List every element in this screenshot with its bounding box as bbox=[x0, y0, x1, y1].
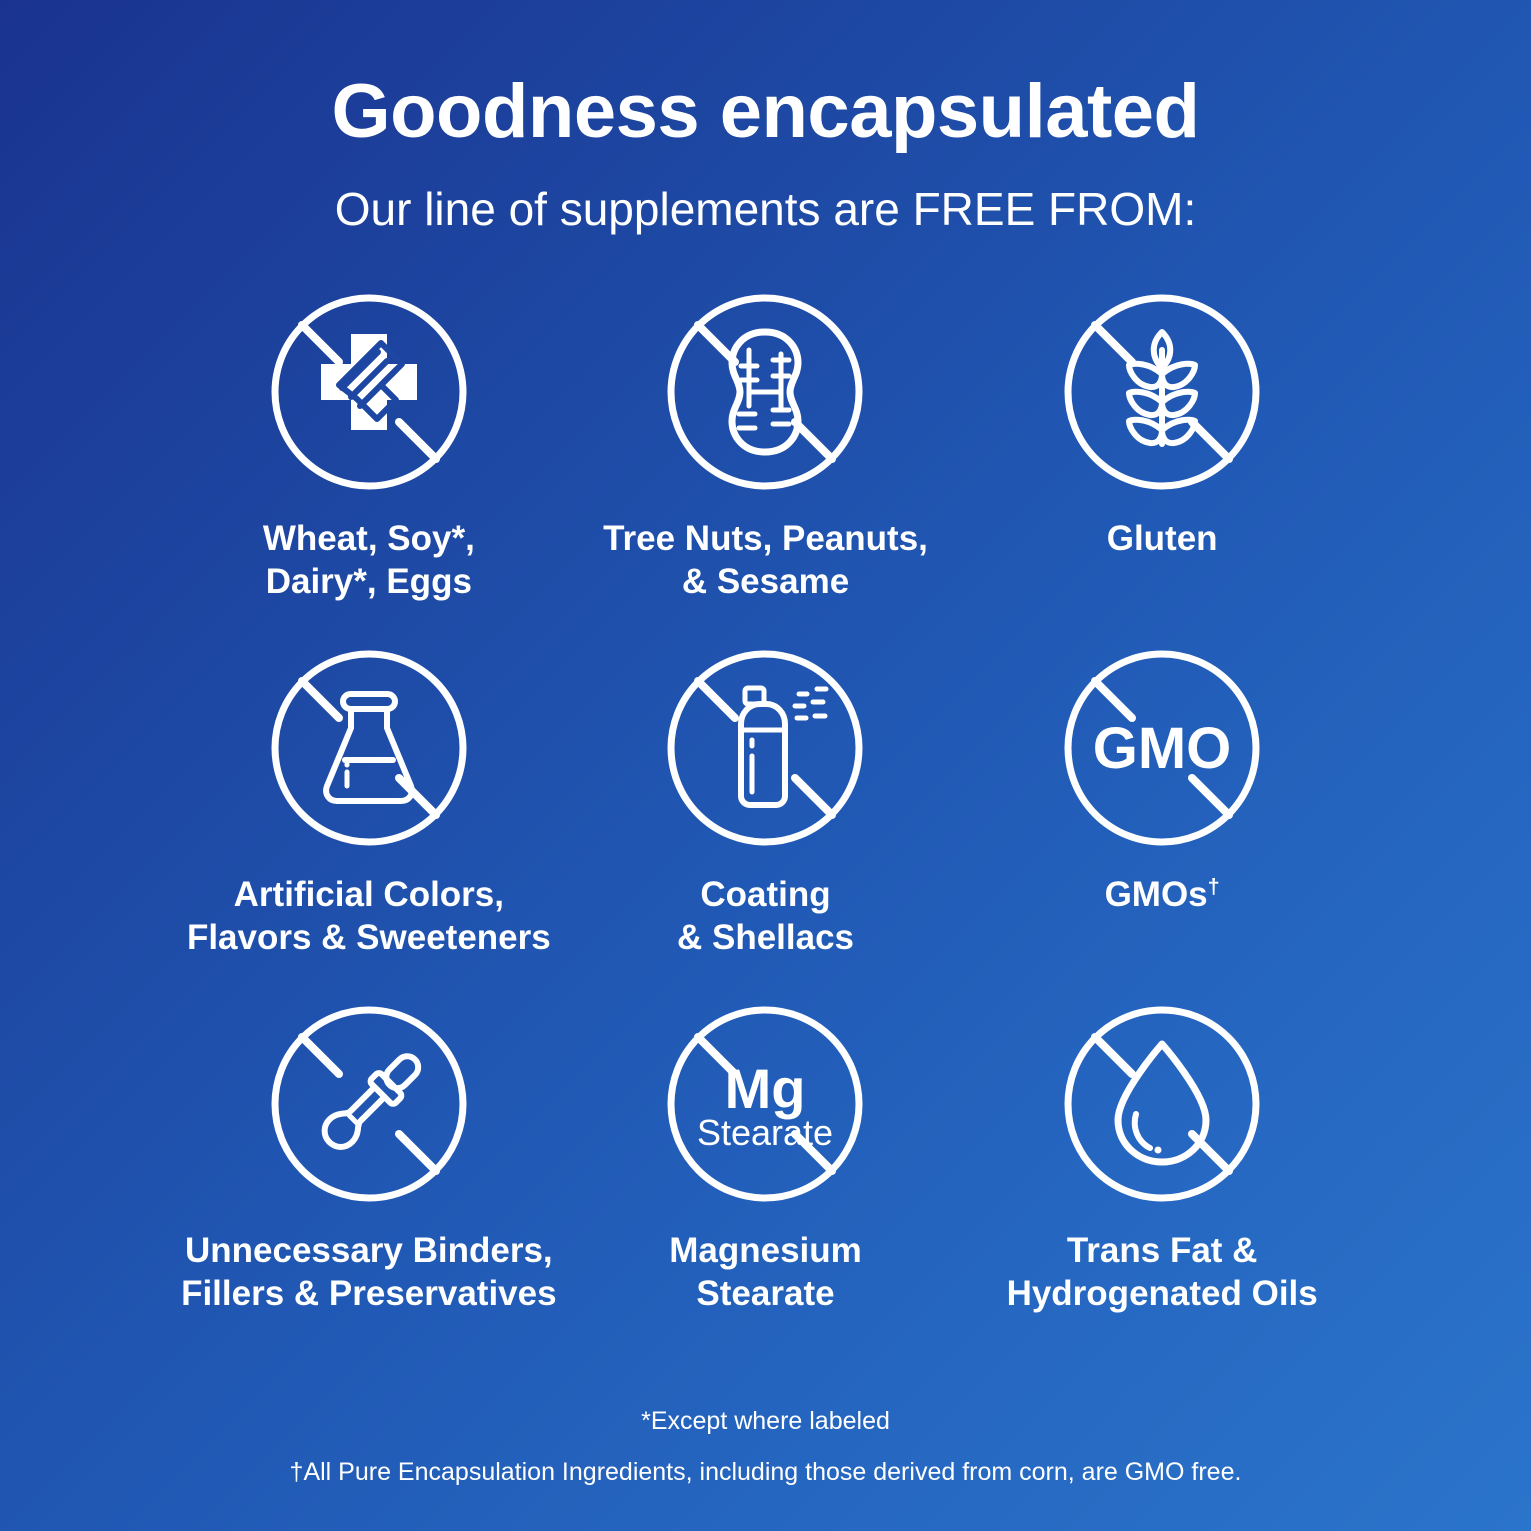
grid-item-label: Wheat, Soy*, Dairy*, Eggs bbox=[263, 518, 475, 603]
mg-icon-text: Mg bbox=[725, 1057, 806, 1120]
grid-item-label: Coating & Shellacs bbox=[677, 874, 854, 959]
free-from-grid: Wheat, Soy*, Dairy*, Eggs bbox=[171, 288, 1361, 1356]
grid-item-label: Unnecessary Binders, Fillers & Preservat… bbox=[181, 1230, 557, 1315]
no-magnesium-stearate-icon: Mg Stearate bbox=[661, 1000, 869, 1208]
page-subtitle: Our line of supplements are FREE FROM: bbox=[0, 150, 1531, 232]
no-gluten-icon bbox=[1058, 288, 1266, 496]
no-gmo-icon: GMO bbox=[1058, 644, 1266, 852]
no-binders-fillers-preservatives-icon bbox=[265, 1000, 473, 1208]
grid-item-label: Tree Nuts, Peanuts, & Sesame bbox=[603, 518, 928, 603]
grid-item: Trans Fat & Hydrogenated Oils bbox=[964, 1000, 1361, 1356]
grid-item: Mg Stearate Magnesium Stearate bbox=[567, 1000, 964, 1356]
no-tree-nuts-peanuts-sesame-icon bbox=[661, 288, 869, 496]
grid-item-label: Trans Fat & Hydrogenated Oils bbox=[1007, 1230, 1318, 1315]
page-title: Goodness encapsulated bbox=[0, 74, 1531, 150]
gmo-icon-text: GMO bbox=[1093, 716, 1232, 781]
grid-item: Artificial Colors, Flavors & Sweeteners bbox=[171, 644, 568, 1000]
no-artificial-colors-flavors-sweeteners-icon bbox=[265, 644, 473, 852]
grid-item: GMO GMOs† bbox=[964, 644, 1361, 1000]
footnote-except-where-labeled: *Except where labeled bbox=[0, 1409, 1531, 1434]
grid-item: Wheat, Soy*, Dairy*, Eggs bbox=[171, 288, 568, 644]
no-coating-shellacs-icon bbox=[661, 644, 869, 852]
header: Goodness encapsulated Our line of supple… bbox=[0, 0, 1531, 232]
grid-item-label: Gluten bbox=[1107, 518, 1218, 561]
no-trans-fat-hydrogenated-oils-icon bbox=[1058, 1000, 1266, 1208]
grid-item-label-superscript: † bbox=[1208, 873, 1220, 898]
grid-item: Unnecessary Binders, Fillers & Preservat… bbox=[171, 1000, 568, 1356]
grid-item: Coating & Shellacs bbox=[567, 644, 964, 1000]
grid-item: Tree Nuts, Peanuts, & Sesame bbox=[567, 288, 964, 644]
footnotes: *Except where labeled †All Pure Encapsul… bbox=[0, 1409, 1531, 1531]
grid-item-label-text: GMOs bbox=[1105, 875, 1208, 914]
footnote-gmo-free: †All Pure Encapsulation Ingredients, inc… bbox=[0, 1434, 1531, 1485]
grid-item-label: GMOs† bbox=[1105, 874, 1220, 917]
grid-item-label: Artificial Colors, Flavors & Sweeteners bbox=[187, 874, 551, 959]
grid-item-label: Magnesium Stearate bbox=[669, 1230, 862, 1315]
infographic-poster: Goodness encapsulated Our line of supple… bbox=[0, 0, 1531, 1531]
no-wheat-soy-dairy-eggs-icon bbox=[265, 288, 473, 496]
grid-item: Gluten bbox=[964, 288, 1361, 644]
